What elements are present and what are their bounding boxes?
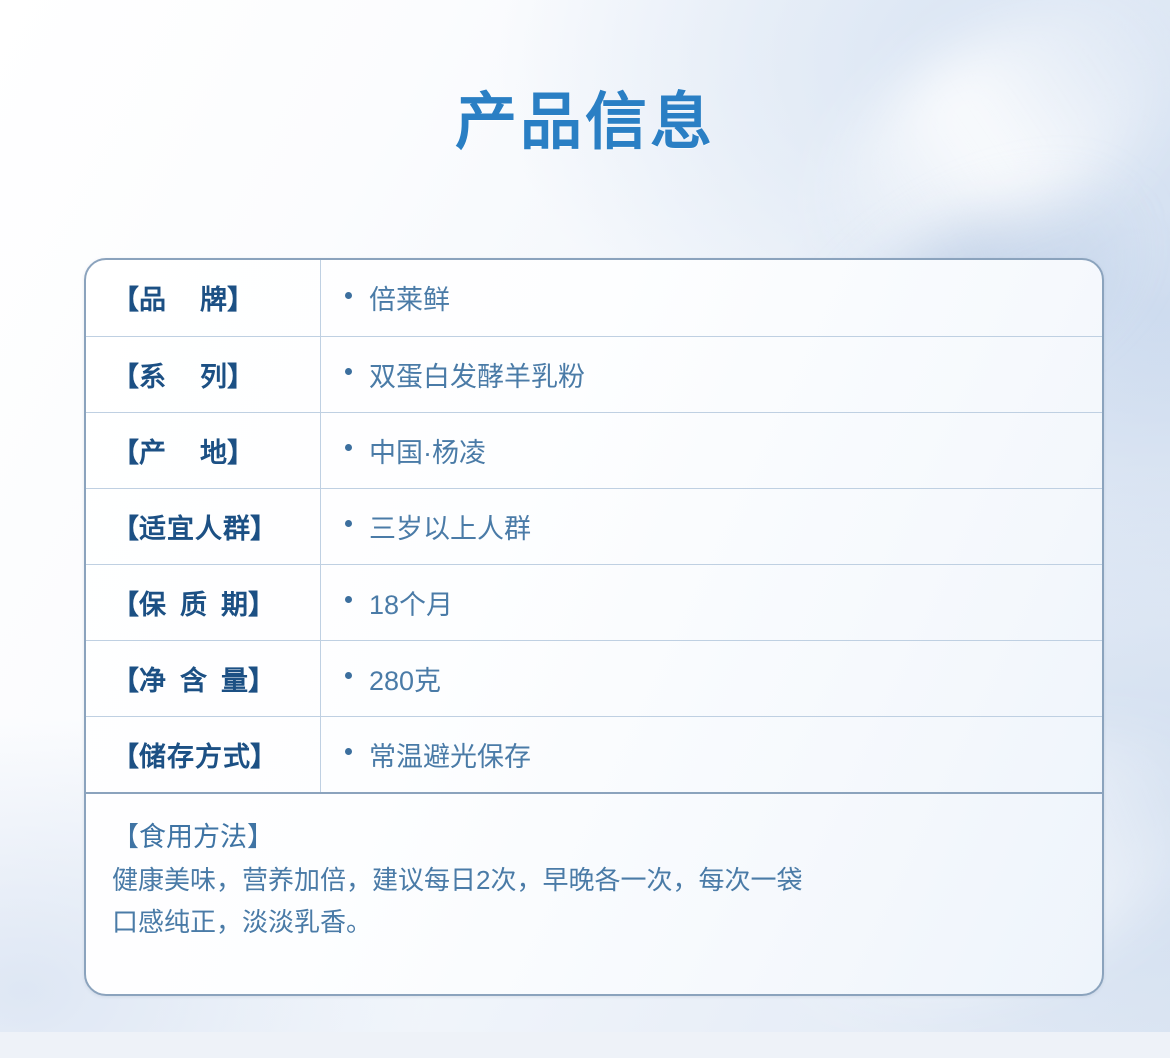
spec-label-cell: 【净含量】 (86, 640, 321, 716)
usage-section-title: 【食用方法】 (112, 818, 1072, 857)
spec-label-bracket-open: 【 (112, 666, 139, 696)
spec-value-cell: 双蛋白发酵羊乳粉 (321, 336, 1103, 412)
spec-label-text: 保质期 (139, 590, 262, 620)
spec-table-body: 【品牌】 倍莱鲜 【系列】 双蛋白发酵羊乳粉 【产地】 中国·杨 (86, 260, 1102, 792)
spec-label-bracket-close: 】 (250, 514, 277, 544)
spec-label-bracket-close: 】 (227, 438, 254, 468)
spec-label-text: 净含量 (139, 666, 262, 696)
spec-value-text: 280克 (369, 666, 441, 696)
spec-label-bracket-open: 【 (112, 590, 139, 620)
table-row: 【产地】 中国·杨凌 (86, 412, 1102, 488)
spec-value-text: 双蛋白发酵羊乳粉 (369, 362, 585, 392)
spec-label-text: 储存方式 (139, 742, 251, 772)
spec-value-text: 18个月 (369, 590, 453, 620)
table-row: 【储存方式】 常温避光保存 (86, 716, 1102, 792)
table-row: 【保质期】 18个月 (86, 564, 1102, 640)
usage-line: 口感纯正，淡淡乳香。 (112, 901, 1072, 943)
spec-label-cell: 【系列】 (86, 336, 321, 412)
spec-label-bracket-close: 】 (227, 362, 254, 392)
bullet-dot-icon (345, 672, 352, 679)
spec-value-cell: 18个月 (321, 564, 1103, 640)
spec-label-bracket-open: 【 (112, 438, 139, 468)
spec-label-bracket-close: 】 (248, 666, 275, 696)
table-row: 【净含量】 280克 (86, 640, 1102, 716)
page-title: 产品信息 (0, 92, 1170, 154)
spec-value-text: 常温避光保存 (369, 742, 531, 772)
spec-value-cell: 280克 (321, 640, 1103, 716)
spec-label-cell: 【适宜人群】 (86, 488, 321, 564)
table-row: 【适宜人群】 三岁以上人群 (86, 488, 1102, 564)
table-row: 【品牌】 倍莱鲜 (86, 260, 1102, 336)
bullet-dot-icon (345, 368, 352, 375)
spec-value-text: 三岁以上人群 (369, 514, 531, 544)
product-info-card: 【品牌】 倍莱鲜 【系列】 双蛋白发酵羊乳粉 【产地】 中国·杨 (84, 258, 1104, 996)
spec-label-bracket-open: 【 (112, 514, 139, 544)
spec-label-bracket-close: 】 (248, 590, 275, 620)
bullet-dot-icon (345, 444, 352, 451)
spec-label-bracket-close: 】 (250, 742, 277, 772)
spec-label-cell: 【品牌】 (86, 260, 321, 336)
spec-label-cell: 【保质期】 (86, 564, 321, 640)
spec-table: 【品牌】 倍莱鲜 【系列】 双蛋白发酵羊乳粉 【产地】 中国·杨 (86, 260, 1102, 792)
bullet-dot-icon (345, 292, 352, 299)
usage-instructions-section: 【食用方法】 健康美味，营养加倍，建议每日2次，早晚各一次，每次一袋 口感纯正，… (86, 792, 1102, 943)
spec-label-text: 适宜人群 (139, 514, 251, 544)
spec-label-cell: 【产地】 (86, 412, 321, 488)
usage-line: 健康美味，营养加倍，建议每日2次，早晚各一次，每次一袋 (112, 859, 1072, 901)
spec-value-cell: 中国·杨凌 (321, 412, 1103, 488)
spec-value-text: 中国·杨凌 (369, 438, 486, 468)
bullet-dot-icon (345, 596, 352, 603)
spec-value-cell: 倍莱鲜 (321, 260, 1103, 336)
bullet-dot-icon (345, 748, 352, 755)
spec-value-cell: 三岁以上人群 (321, 488, 1103, 564)
spec-value-text: 倍莱鲜 (369, 285, 450, 315)
spec-label-bracket-open: 【 (112, 742, 139, 772)
spec-label-cell: 【储存方式】 (86, 716, 321, 792)
spec-label-bracket-open: 【 (112, 362, 139, 392)
bullet-dot-icon (345, 520, 352, 527)
spec-label-bracket-open: 【 (112, 285, 139, 315)
spec-label-bracket-close: 】 (227, 285, 254, 315)
table-row: 【系列】 双蛋白发酵羊乳粉 (86, 336, 1102, 412)
spec-value-cell: 常温避光保存 (321, 716, 1103, 792)
